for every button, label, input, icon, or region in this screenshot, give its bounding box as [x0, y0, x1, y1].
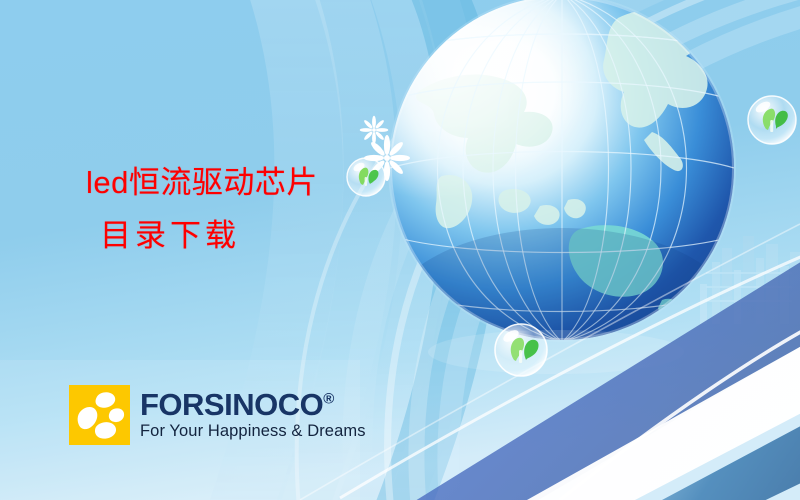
longitude-lines	[438, 0, 687, 342]
cityscape-silhouette	[700, 236, 800, 324]
title-line-1: led恒流驱动芯片	[86, 165, 318, 200]
eco-bubble	[748, 96, 796, 144]
logo-tagline: For Your Happiness & Dreams	[140, 422, 366, 441]
continent-australia	[569, 225, 677, 315]
logo-pinwheel-icon	[69, 385, 130, 445]
logo-wordmark: FORSINOCO®	[140, 389, 366, 420]
latitude-lines	[390, 0, 734, 312]
slide-canvas: led恒流驱动芯片 目录下载 FORSINOCO® Fo	[0, 0, 800, 500]
continent-shapes	[416, 2, 744, 228]
page-title: led恒流驱动芯片 目录下载	[86, 162, 416, 256]
registered-trademark-icon: ®	[323, 391, 334, 408]
brand-logo: FORSINOCO® For Your Happiness & Dreams	[69, 385, 366, 445]
title-line-2: 目录下载	[86, 215, 416, 256]
sparkle-burst	[360, 116, 389, 145]
diagonal-band-group	[300, 224, 800, 500]
eco-bubble	[495, 324, 547, 376]
logo-name-text: FORSINOCO	[140, 387, 323, 422]
logo-wordmark-group: FORSINOCO® For Your Happiness & Dreams	[140, 385, 366, 441]
